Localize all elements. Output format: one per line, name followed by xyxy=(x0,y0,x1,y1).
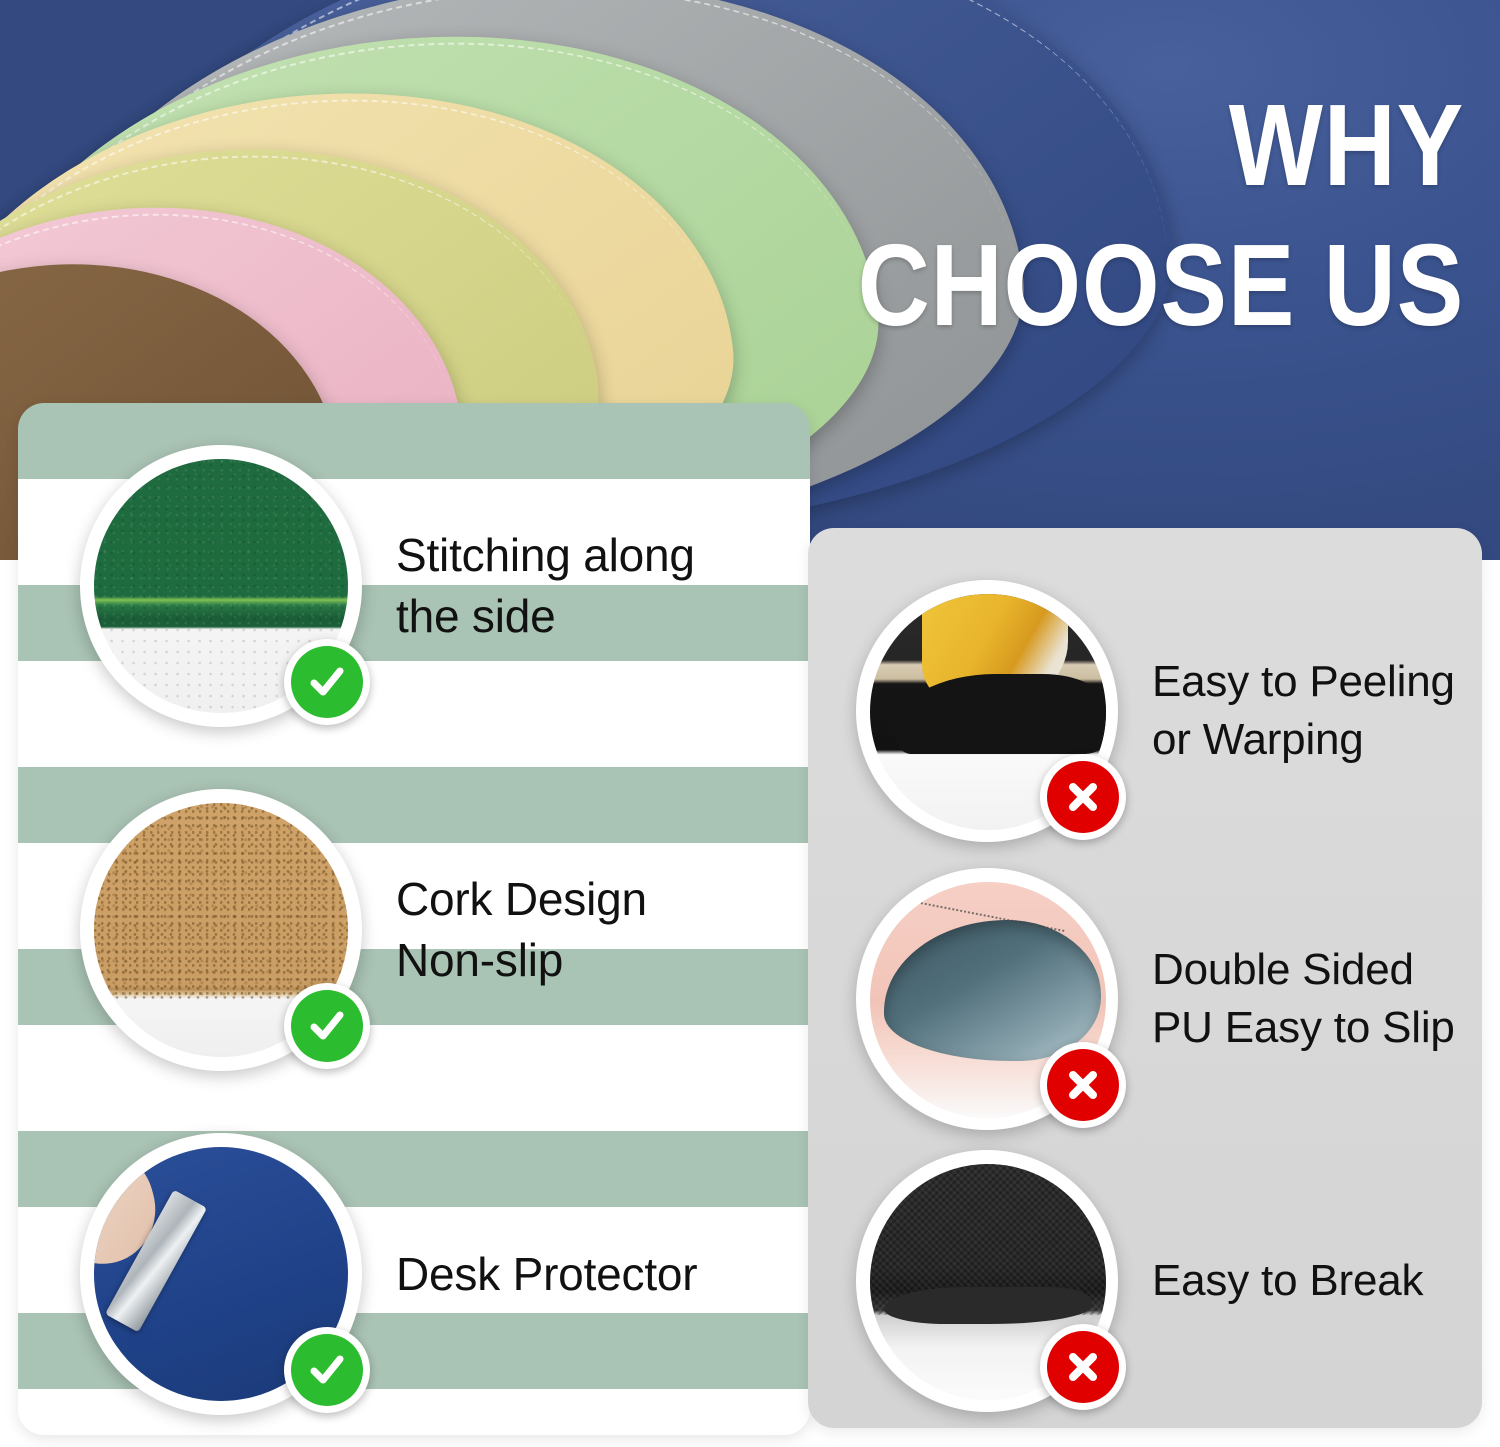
pros-thumb-desk-protector xyxy=(80,1133,362,1415)
check-badge xyxy=(284,1327,370,1413)
title-line-1: WHY xyxy=(858,86,1464,204)
cross-icon xyxy=(1047,1331,1119,1403)
pros-label-cork: Cork Design Non-slip xyxy=(396,869,647,990)
cons-thumb-easy-to-break xyxy=(856,1150,1118,1412)
cons-item-peeling: Easy to Peeling or Warping xyxy=(856,580,1455,842)
cons-label-easy-to-break: Easy to Break xyxy=(1152,1252,1423,1310)
cross-icon xyxy=(1047,1049,1119,1121)
cons-thumb-double-sided-pu xyxy=(856,868,1118,1130)
check-icon xyxy=(291,646,363,718)
check-icon xyxy=(291,1334,363,1406)
page-title: WHY CHOOSE US xyxy=(759,86,1464,345)
pros-item-stitching: Stitching along the side xyxy=(80,445,695,727)
check-icon xyxy=(291,990,363,1062)
cross-icon xyxy=(1047,761,1119,833)
check-badge xyxy=(284,983,370,1069)
cons-label-peeling: Easy to Peeling or Warping xyxy=(1152,653,1455,769)
pros-item-cork: Cork Design Non-slip xyxy=(80,789,647,1071)
pros-panel: Stitching along the side Cork Design Non… xyxy=(18,403,810,1435)
pros-label-stitching: Stitching along the side xyxy=(396,525,695,646)
cons-item-double-sided-pu: Double Sided PU Easy to Slip xyxy=(856,868,1455,1130)
pros-thumb-cork xyxy=(80,789,362,1071)
cons-item-easy-to-break: Easy to Break xyxy=(856,1150,1423,1412)
cross-badge xyxy=(1040,1042,1126,1128)
cons-label-double-sided-pu: Double Sided PU Easy to Slip xyxy=(1152,941,1455,1057)
infographic-root: WHY CHOOSE US Stitching along the side xyxy=(0,0,1500,1447)
check-badge xyxy=(284,639,370,725)
pros-label-desk-protector: Desk Protector xyxy=(396,1244,697,1305)
cross-badge xyxy=(1040,1324,1126,1410)
title-line-2: CHOOSE US xyxy=(858,226,1464,344)
cons-thumb-peeling xyxy=(856,580,1118,842)
pros-thumb-stitching xyxy=(80,445,362,727)
pros-item-desk-protector: Desk Protector xyxy=(80,1133,697,1415)
cons-panel: Easy to Peeling or Warping Double Sided … xyxy=(808,528,1482,1428)
cross-badge xyxy=(1040,754,1126,840)
